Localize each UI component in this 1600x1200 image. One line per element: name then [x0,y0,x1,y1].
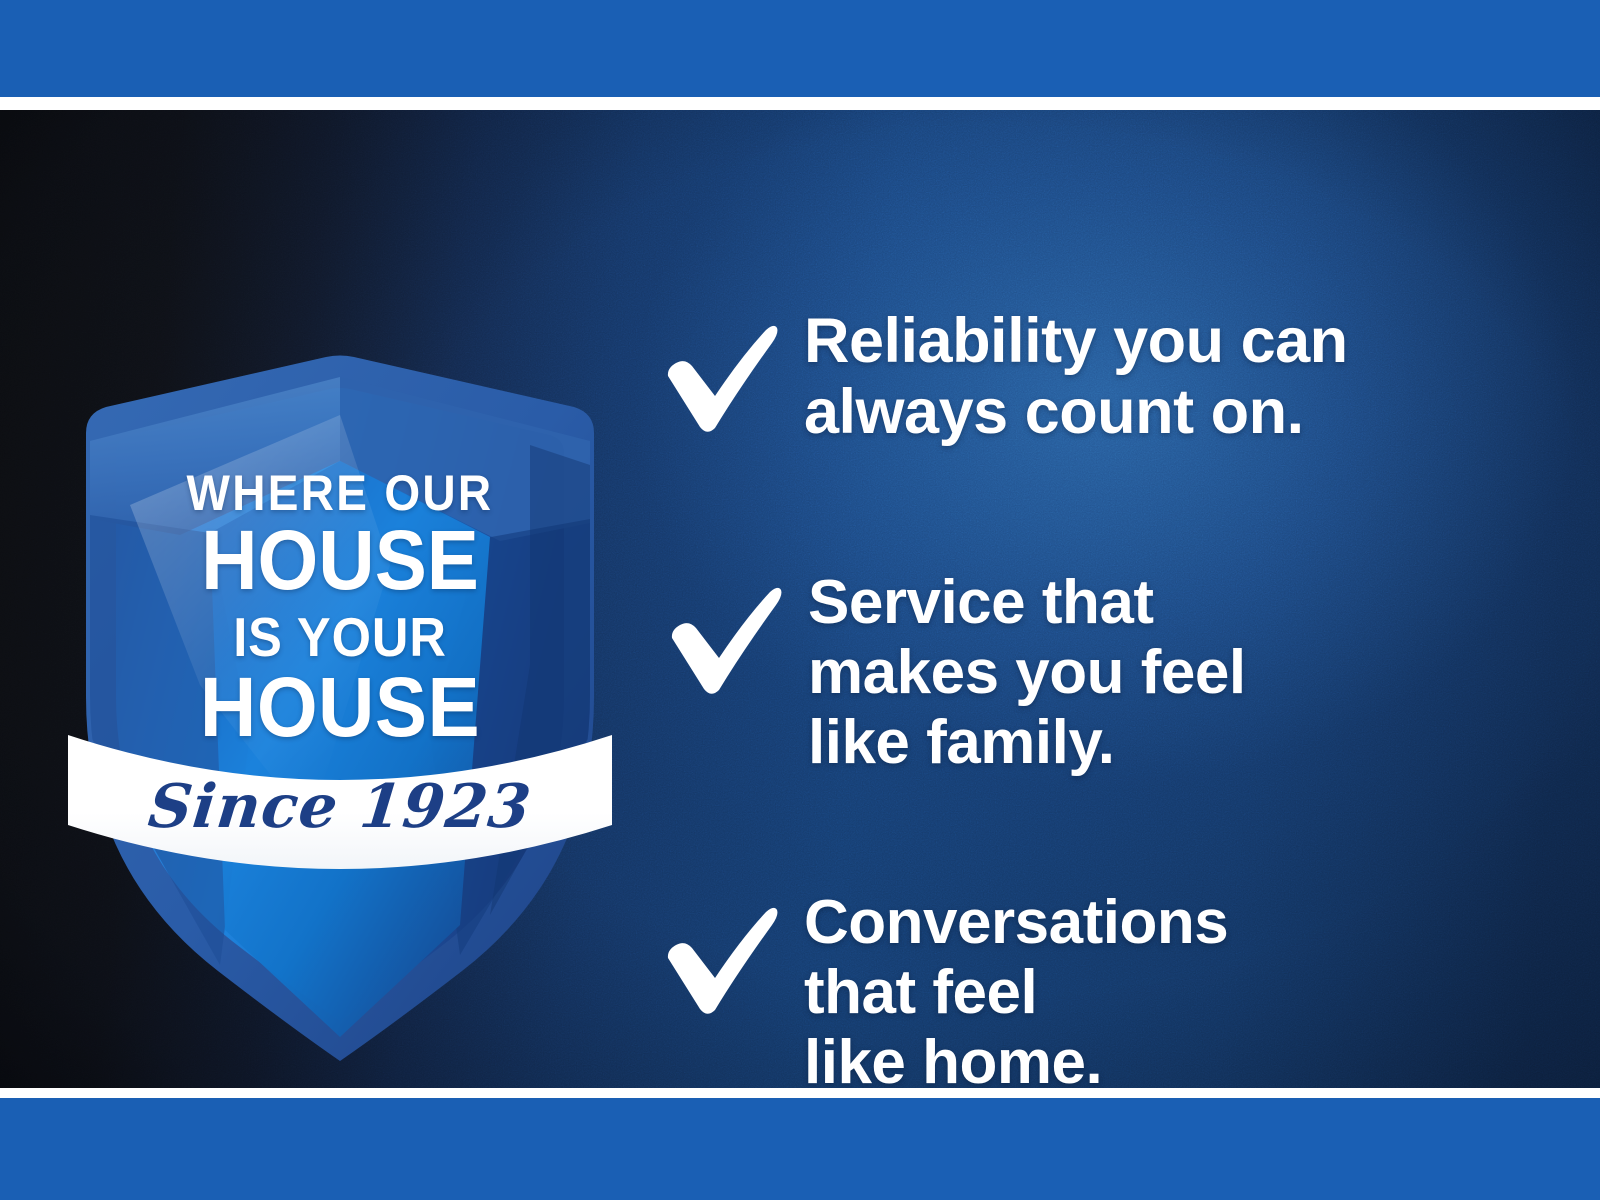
promo-graphic: WHERE OUR HOUSE IS YOUR HOUSE Since 1923… [0,0,1600,1200]
main-panel: WHERE OUR HOUSE IS YOUR HOUSE Since 1923… [0,110,1600,1088]
list-item-text: Service that makes you feel like family. [808,568,1246,778]
list-item-text: Reliability you can always count on. [804,306,1348,448]
bottom-accent-bar [0,1098,1600,1200]
list-item-text: Conversations that feel like home. [804,888,1228,1088]
top-accent-bar [0,0,1600,97]
check-icon [662,306,804,436]
check-icon [666,568,808,698]
check-icon [662,888,804,1018]
list-item: Service that makes you feel like family. [666,568,1246,778]
list-item: Reliability you can always count on. [662,306,1348,448]
list-item: Conversations that feel like home. [662,888,1228,1088]
shield-bevel-facets [90,377,590,1037]
shield-emblem: WHERE OUR HOUSE IS YOUR HOUSE Since 1923 [60,265,620,1065]
